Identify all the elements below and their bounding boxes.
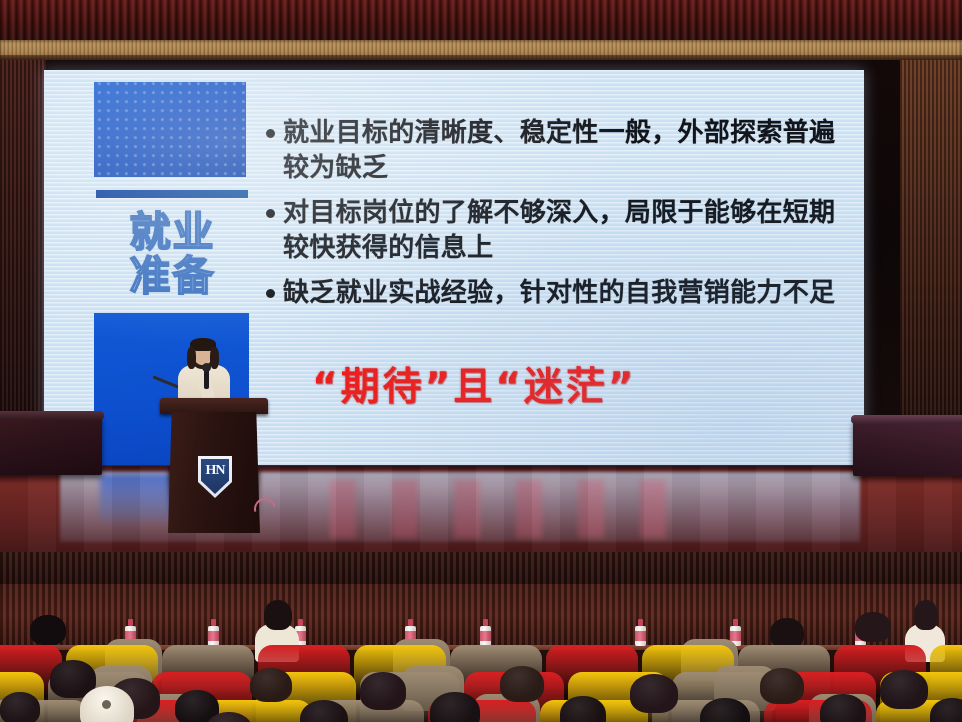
audience-head [30,615,66,645]
audience-head [0,692,40,722]
water-bottle [480,618,491,646]
sidebar-top-image-block [94,82,246,177]
audience-head [760,668,804,704]
audience-head [264,600,292,630]
list-item: 就业目标的清晰度、稳定性一般，外部探索普遍较为缺乏 [266,116,856,185]
slide-headline: “期待”且“迷茫” [312,356,637,412]
podium-top-surface [160,398,268,414]
list-item: 缺乏就业实战经验，针对性的自我营销能力不足 [266,276,856,311]
slide-section-title-line1: 就业 [90,210,255,254]
stage-table-left [0,413,102,475]
audience-head [770,618,804,648]
audience-head [630,674,678,713]
stage-curtain [0,0,962,42]
slide-section-title-line2: 准备 [90,254,255,298]
bullet-text: 缺乏就业实战经验，针对性的自我营销能力不足 [283,276,835,311]
audience-head [430,692,480,722]
audience-head [360,672,406,710]
audience-head [500,666,544,702]
audience-head [914,600,938,630]
stage-table-right [853,418,962,476]
speaker-hair-left [187,347,196,369]
bullet-dot-icon [266,289,275,298]
lecture-hall-scene: 就业 准备 就业目标的清晰度、稳定性一般，外部探索普遍较为缺乏 对目标岗位的了解… [0,0,962,722]
crest-initials: HN [201,464,229,478]
stage-front-panel [0,552,962,586]
water-bottle [635,618,646,646]
audience-head [855,612,891,642]
bullet-dot-icon [266,209,275,218]
slide-section-title: 就业 准备 [90,210,255,299]
bullet-text: 对目标岗位的了解不够深入，局限于能够在短期较快获得的信息上 [283,196,856,265]
bullet-text: 就业目标的清晰度、稳定性一般，外部探索普遍较为缺乏 [283,116,856,185]
audience-head [820,694,866,722]
microphone-head-icon [202,363,211,372]
list-item: 对目标岗位的了解不够深入，局限于能够在短期较快获得的信息上 [266,196,856,265]
sidebar-divider-bar [96,190,248,198]
podium: HN [168,398,260,533]
slide-bullet-list: 就业目标的清晰度、稳定性一般，外部探索普遍较为缺乏 对目标岗位的了解不够深入，局… [266,116,856,322]
audience-head [250,668,292,702]
water-bottle [208,618,219,646]
bullet-dot-icon [266,129,275,138]
speaker-hair-right [210,347,219,369]
stage-table-left-top [0,411,104,420]
stage-table-right-top [851,415,962,424]
audience-head [880,670,928,709]
cap-button-icon [102,700,111,709]
